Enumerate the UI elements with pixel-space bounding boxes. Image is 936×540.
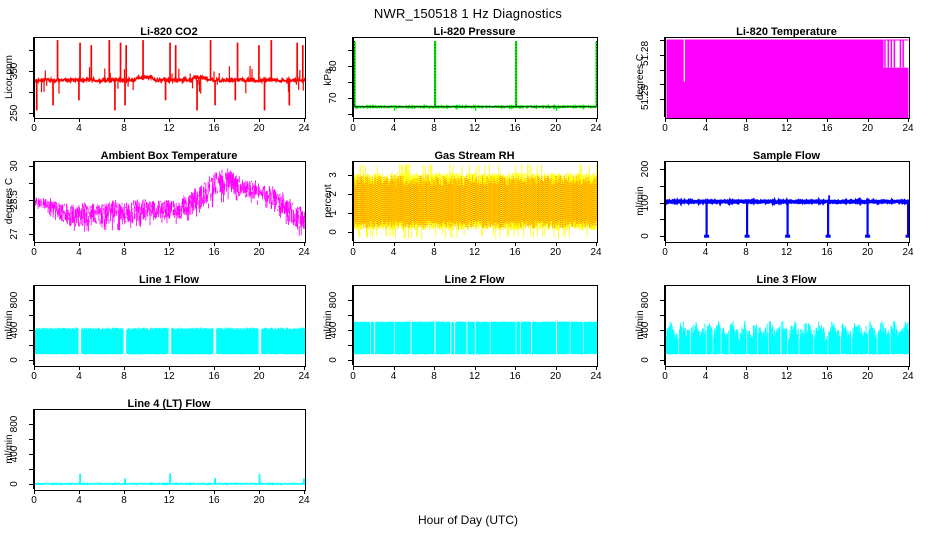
y-tick-label-li820-pressure-80: 80: [329, 55, 339, 77]
x-tick-li820-temperature-24: [908, 118, 909, 122]
x-tick-li820-temperature-16: [827, 118, 828, 122]
y-tick-label-line-4-lt-flow-800: 800: [10, 413, 20, 435]
y-axis-label-line-2-flow: ml/min: [324, 297, 334, 353]
x-tick-label-line-3-flow-24: 24: [902, 372, 913, 382]
y-tick-label-line-4-lt-flow-400: 400: [10, 443, 20, 465]
x-tick-label-li820-co2-4: 4: [76, 124, 82, 134]
panel-line-3-flow: Line 3 Flow048121620240400800ml/min: [0, 0, 936, 540]
x-tick-label-line-1-flow-12: 12: [163, 372, 174, 382]
x-tick-label-line-4-lt-flow-20: 20: [253, 496, 264, 506]
x-tick-line-3-flow-8: [746, 366, 747, 370]
x-tick-label-line-3-flow-8: 8: [743, 372, 749, 382]
x-tick-line-3-flow-16: [827, 366, 828, 370]
plot-area-ambient-box-temperature: [34, 161, 306, 243]
y-axis-label-li820-pressure: kPa: [324, 49, 334, 105]
x-tick-label-sample-flow-8: 8: [743, 248, 749, 258]
x-tick-line-4-lt-flow-4: [79, 490, 80, 494]
x-tick-line-3-flow-4: [706, 366, 707, 370]
x-tick-label-gas-stream-rh-12: 12: [469, 248, 480, 258]
y-tick-gas-stream-rh-2: [348, 194, 352, 195]
x-tick-label-li820-temperature-12: 12: [781, 124, 792, 134]
x-tick-label-line-4-lt-flow-8: 8: [121, 496, 127, 506]
x-tick-ambient-box-temperature-0: [34, 242, 35, 246]
x-tick-label-li820-temperature-8: 8: [743, 124, 749, 134]
y-tick-label-li820-co2-250: 250: [10, 102, 20, 124]
x-tick-line-2-flow-8: [434, 366, 435, 370]
y-tick-label-li820-temperature-51.28: 51.28: [641, 44, 651, 66]
y-tick-li820-co2-350: [29, 71, 33, 72]
x-axis-spine-li820-co2: [34, 118, 304, 119]
panel-li820-temperature: Li-820 Temperature0481216202451.2551.28d…: [0, 0, 936, 540]
y-minor-tick-sample-flow-150: [660, 186, 664, 187]
x-tick-line-2-flow-12: [475, 366, 476, 370]
y-tick-gas-stream-rh-3: [348, 175, 352, 176]
y-tick-line-2-flow-800: [348, 300, 352, 301]
x-tick-li820-co2-20: [259, 118, 260, 122]
y-axis-spine-line-3-flow: [664, 285, 665, 365]
x-tick-label-li820-temperature-4: 4: [703, 124, 709, 134]
y-tick-li820-temperature-51.28: [660, 55, 664, 56]
y-tick-label-gas-stream-rh-1: 1: [329, 202, 339, 224]
x-tick-label-gas-stream-rh-20: 20: [550, 248, 561, 258]
x-tick-label-line-3-flow-20: 20: [862, 372, 873, 382]
y-minor-tick-li820-temperature-51.27: [660, 70, 664, 71]
plot-area-line-1-flow: [34, 285, 306, 367]
x-tick-li820-temperature-12: [787, 118, 788, 122]
x-tick-label-line-2-flow-24: 24: [590, 372, 601, 382]
x-tick-sample-flow-4: [706, 242, 707, 246]
x-tick-line-1-flow-4: [79, 366, 80, 370]
x-tick-ambient-box-temperature-24: [304, 242, 305, 246]
x-tick-label-gas-stream-rh-0: 0: [350, 248, 356, 258]
panel-title-gas-stream-rh: Gas Stream RH: [353, 150, 596, 162]
x-tick-label-line-1-flow-4: 4: [76, 372, 82, 382]
x-tick-line-4-lt-flow-24: [304, 490, 305, 494]
x-tick-label-line-2-flow-4: 4: [391, 372, 397, 382]
y-tick-sample-flow-100: [660, 203, 664, 204]
x-tick-label-ambient-box-temperature-8: 8: [121, 248, 127, 258]
x-tick-label-line-4-lt-flow-24: 24: [298, 496, 309, 506]
y-axis-spine-sample-flow: [664, 161, 665, 241]
y-minor-tick-line-2-flow-600: [348, 315, 352, 316]
y-tick-line-1-flow-0: [29, 360, 33, 361]
y-tick-label-line-1-flow-400: 400: [10, 319, 20, 341]
x-tick-ambient-box-temperature-16: [214, 242, 215, 246]
x-axis-spine-line-2-flow: [353, 366, 596, 367]
y-tick-label-line-2-flow-400: 400: [329, 319, 339, 341]
x-tick-sample-flow-8: [746, 242, 747, 246]
y-tick-label-gas-stream-rh-0: 0: [329, 221, 339, 243]
x-tick-label-line-3-flow-0: 0: [662, 372, 668, 382]
x-tick-label-li820-co2-8: 8: [121, 124, 127, 134]
x-tick-label-gas-stream-rh-24: 24: [590, 248, 601, 258]
y-tick-line-1-flow-800: [29, 300, 33, 301]
panel-line-4-lt-flow: Line 4 (LT) Flow048121620240400800ml/min: [0, 0, 936, 540]
y-tick-sample-flow-200: [660, 169, 664, 170]
x-tick-ambient-box-temperature-12: [169, 242, 170, 246]
y-minor-tick-ambient-box-temperature-29.25: [29, 183, 33, 184]
y-tick-label-line-1-flow-0: 0: [10, 349, 20, 371]
page-title: NWR_150518 1 Hz Diagnostics: [0, 6, 936, 21]
y-tick-line-4-lt-flow-0: [29, 484, 33, 485]
x-tick-label-ambient-box-temperature-0: 0: [31, 248, 37, 258]
panel-sample-flow: Sample Flow048121620240100200ml/min: [0, 0, 936, 540]
x-tick-ambient-box-temperature-20: [259, 242, 260, 246]
x-tick-label-li820-co2-12: 12: [163, 124, 174, 134]
x-axis-spine-line-1-flow: [34, 366, 304, 367]
x-tick-gas-stream-rh-12: [475, 242, 476, 246]
y-tick-line-4-lt-flow-400: [29, 454, 33, 455]
x-tick-line-4-lt-flow-12: [169, 490, 170, 494]
y-tick-ambient-box-temperature-30: [29, 166, 33, 167]
y-minor-tick-line-2-flow-200: [348, 345, 352, 346]
x-tick-label-gas-stream-rh-4: 4: [391, 248, 397, 258]
x-tick-label-ambient-box-temperature-24: 24: [298, 248, 309, 258]
y-tick-label-sample-flow-200: 200: [641, 158, 651, 180]
y-tick-label-gas-stream-rh-2: 2: [329, 183, 339, 205]
x-tick-label-line-4-lt-flow-0: 0: [31, 496, 37, 506]
x-tick-label-line-3-flow-4: 4: [703, 372, 709, 382]
y-tick-ambient-box-temperature-28.5: [29, 200, 33, 201]
y-minor-tick-line-4-lt-flow-200: [29, 469, 33, 470]
y-minor-tick-li820-pressure-85: [348, 50, 352, 51]
y-tick-label-line-3-flow-800: 800: [641, 289, 651, 311]
y-tick-gas-stream-rh-0: [348, 232, 352, 233]
x-tick-line-1-flow-24: [304, 366, 305, 370]
panel-line-2-flow: Line 2 Flow048121620240400800ml/min: [0, 0, 936, 540]
y-tick-li820-pressure-70: [348, 98, 352, 99]
plot-area-line-4-lt-flow: [34, 409, 306, 491]
x-tick-label-li820-pressure-8: 8: [431, 124, 437, 134]
x-tick-label-line-2-flow-0: 0: [350, 372, 356, 382]
y-axis-label-li820-temperature: degrees C: [636, 49, 646, 105]
x-tick-line-1-flow-0: [34, 366, 35, 370]
x-tick-line-3-flow-20: [868, 366, 869, 370]
y-axis-spine-li820-pressure: [352, 37, 353, 117]
x-tick-li820-pressure-0: [353, 118, 354, 122]
x-tick-label-line-2-flow-16: 16: [509, 372, 520, 382]
y-minor-tick-line-3-flow-200: [660, 345, 664, 346]
y-axis-spine-line-1-flow: [33, 285, 34, 365]
x-tick-label-li820-co2-20: 20: [253, 124, 264, 134]
x-axis-spine-sample-flow: [665, 242, 908, 243]
x-tick-li820-pressure-24: [596, 118, 597, 122]
x-tick-line-1-flow-8: [124, 366, 125, 370]
x-tick-label-li820-pressure-20: 20: [550, 124, 561, 134]
x-tick-label-line-1-flow-20: 20: [253, 372, 264, 382]
y-tick-line-2-flow-400: [348, 330, 352, 331]
x-tick-label-line-1-flow-8: 8: [121, 372, 127, 382]
y-tick-label-li820-temperature-51.25: 51.25: [641, 88, 651, 110]
panel-title-li820-temperature: Li-820 Temperature: [665, 26, 908, 38]
x-tick-gas-stream-rh-16: [515, 242, 516, 246]
x-tick-li820-co2-0: [34, 118, 35, 122]
y-axis-spine-line-2-flow: [352, 285, 353, 365]
x-tick-li820-co2-12: [169, 118, 170, 122]
x-tick-label-line-4-lt-flow-12: 12: [163, 496, 174, 506]
x-tick-line-1-flow-16: [214, 366, 215, 370]
x-tick-label-sample-flow-0: 0: [662, 248, 668, 258]
x-tick-ambient-box-temperature-8: [124, 242, 125, 246]
y-minor-tick-sample-flow-50: [660, 219, 664, 220]
y-minor-tick-li820-pressure-75: [348, 82, 352, 83]
x-tick-line-4-lt-flow-8: [124, 490, 125, 494]
x-tick-label-sample-flow-4: 4: [703, 248, 709, 258]
panel-gas-stream-rh: Gas Stream RH048121620240123percent: [0, 0, 936, 540]
y-tick-label-line-1-flow-800: 800: [10, 289, 20, 311]
x-tick-li820-temperature-4: [706, 118, 707, 122]
x-tick-label-li820-pressure-4: 4: [391, 124, 397, 134]
x-tick-line-4-lt-flow-16: [214, 490, 215, 494]
x-tick-label-li820-temperature-24: 24: [902, 124, 913, 134]
x-axis-spine-line-3-flow: [665, 366, 908, 367]
panel-title-ambient-box-temperature: Ambient Box Temperature: [34, 150, 304, 162]
y-tick-label-line-3-flow-400: 400: [641, 319, 651, 341]
y-minor-tick-li820-co2-400: [29, 50, 33, 51]
x-tick-label-sample-flow-24: 24: [902, 248, 913, 258]
x-tick-line-2-flow-24: [596, 366, 597, 370]
x-tick-sample-flow-24: [908, 242, 909, 246]
y-tick-label-sample-flow-0: 0: [641, 225, 651, 247]
y-axis-label-line-1-flow: ml/min: [5, 297, 15, 353]
x-tick-gas-stream-rh-0: [353, 242, 354, 246]
x-tick-label-line-4-lt-flow-4: 4: [76, 496, 82, 506]
x-tick-li820-pressure-16: [515, 118, 516, 122]
y-minor-tick-li820-co2-300: [29, 92, 33, 93]
panel-title-line-3-flow: Line 3 Flow: [665, 274, 908, 286]
x-tick-label-li820-pressure-16: 16: [509, 124, 520, 134]
x-tick-gas-stream-rh-8: [434, 242, 435, 246]
panel-title-li820-co2: Li-820 CO2: [34, 26, 304, 38]
x-axis-label: Hour of Day (UTC): [0, 513, 936, 527]
y-tick-li820-co2-250: [29, 113, 33, 114]
x-tick-li820-co2-16: [214, 118, 215, 122]
y-axis-label-line-4-lt-flow: ml/min: [5, 421, 15, 477]
y-tick-li820-pressure-80: [348, 66, 352, 67]
x-tick-label-sample-flow-20: 20: [862, 248, 873, 258]
x-tick-sample-flow-0: [665, 242, 666, 246]
x-axis-spine-gas-stream-rh: [353, 242, 596, 243]
y-tick-sample-flow-0: [660, 236, 664, 237]
x-tick-label-li820-co2-0: 0: [31, 124, 37, 134]
y-tick-label-sample-flow-100: 100: [641, 192, 651, 214]
x-tick-sample-flow-16: [827, 242, 828, 246]
panel-title-line-2-flow: Line 2 Flow: [353, 274, 596, 286]
x-tick-sample-flow-12: [787, 242, 788, 246]
y-tick-label-line-2-flow-800: 800: [329, 289, 339, 311]
x-tick-label-line-4-lt-flow-16: 16: [208, 496, 219, 506]
x-tick-sample-flow-20: [868, 242, 869, 246]
y-tick-label-line-4-lt-flow-0: 0: [10, 473, 20, 495]
x-tick-label-ambient-box-temperature-12: 12: [163, 248, 174, 258]
y-tick-label-ambient-box-temperature-28.5: 28.5: [10, 189, 20, 211]
panel-title-line-4-lt-flow: Line 4 (LT) Flow: [34, 398, 304, 410]
y-tick-label-ambient-box-temperature-27: 27: [10, 223, 20, 245]
y-axis-spine-gas-stream-rh: [352, 161, 353, 241]
y-minor-tick-line-1-flow-600: [29, 315, 33, 316]
y-tick-label-ambient-box-temperature-30: 30: [10, 155, 20, 177]
y-tick-label-li820-co2-350: 350: [10, 60, 20, 82]
x-tick-gas-stream-rh-20: [556, 242, 557, 246]
x-tick-label-ambient-box-temperature-16: 16: [208, 248, 219, 258]
y-tick-gas-stream-rh-1: [348, 213, 352, 214]
x-tick-li820-pressure-20: [556, 118, 557, 122]
y-axis-label-line-3-flow: ml/min: [636, 297, 646, 353]
x-tick-line-3-flow-0: [665, 366, 666, 370]
x-tick-label-line-1-flow-24: 24: [298, 372, 309, 382]
y-axis-label-ambient-box-temperature: degrees C: [5, 173, 15, 229]
x-tick-line-2-flow-16: [515, 366, 516, 370]
x-tick-line-4-lt-flow-0: [34, 490, 35, 494]
x-tick-label-li820-pressure-12: 12: [469, 124, 480, 134]
x-tick-label-ambient-box-temperature-4: 4: [76, 248, 82, 258]
panel-title-line-1-flow: Line 1 Flow: [34, 274, 304, 286]
x-tick-li820-temperature-8: [746, 118, 747, 122]
x-tick-label-line-2-flow-8: 8: [431, 372, 437, 382]
x-tick-label-li820-co2-24: 24: [298, 124, 309, 134]
x-tick-line-3-flow-12: [787, 366, 788, 370]
x-tick-label-li820-temperature-20: 20: [862, 124, 873, 134]
x-tick-label-sample-flow-12: 12: [781, 248, 792, 258]
y-minor-tick-line-3-flow-600: [660, 315, 664, 316]
y-minor-tick-ambient-box-temperature-27.75: [29, 217, 33, 218]
x-tick-line-1-flow-20: [259, 366, 260, 370]
x-tick-label-gas-stream-rh-8: 8: [431, 248, 437, 258]
y-minor-tick-li820-temperature-51.26: [660, 84, 664, 85]
plot-area-line-2-flow: [353, 285, 598, 367]
y-axis-label-li820-co2: Licor ppm: [5, 49, 15, 105]
y-axis-spine-line-4-lt-flow: [33, 409, 34, 489]
x-tick-line-2-flow-20: [556, 366, 557, 370]
y-axis-spine-li820-temperature: [664, 37, 665, 117]
panel-li820-pressure: Li-820 Pressure048121620247080kPa: [0, 0, 936, 540]
y-tick-label-line-3-flow-0: 0: [641, 349, 651, 371]
y-minor-tick-line-1-flow-200: [29, 345, 33, 346]
y-axis-spine-ambient-box-temperature: [33, 161, 34, 241]
x-tick-gas-stream-rh-4: [394, 242, 395, 246]
x-tick-li820-pressure-4: [394, 118, 395, 122]
x-tick-ambient-box-temperature-4: [79, 242, 80, 246]
x-tick-li820-co2-24: [304, 118, 305, 122]
x-tick-line-2-flow-0: [353, 366, 354, 370]
y-tick-line-2-flow-0: [348, 360, 352, 361]
x-tick-line-1-flow-12: [169, 366, 170, 370]
panel-title-li820-pressure: Li-820 Pressure: [353, 26, 596, 38]
panel-ambient-box-temperature: Ambient Box Temperature048121620242728.5…: [0, 0, 936, 540]
x-tick-label-line-1-flow-16: 16: [208, 372, 219, 382]
x-tick-label-sample-flow-16: 16: [821, 248, 832, 258]
x-axis-spine-li820-temperature: [665, 118, 908, 119]
y-tick-line-1-flow-400: [29, 330, 33, 331]
y-minor-tick-li820-pressure-65: [348, 114, 352, 115]
x-tick-gas-stream-rh-24: [596, 242, 597, 246]
x-tick-line-3-flow-24: [908, 366, 909, 370]
plot-area-gas-stream-rh: [353, 161, 598, 243]
x-tick-label-line-3-flow-16: 16: [821, 372, 832, 382]
x-tick-li820-temperature-0: [665, 118, 666, 122]
y-tick-line-3-flow-800: [660, 300, 664, 301]
panel-line-1-flow: Line 1 Flow048121620240400800ml/min: [0, 0, 936, 540]
x-tick-label-li820-pressure-0: 0: [350, 124, 356, 134]
y-minor-tick-li820-temperature-51.29: [660, 40, 664, 41]
plot-area-line-3-flow: [665, 285, 910, 367]
x-tick-label-ambient-box-temperature-20: 20: [253, 248, 264, 258]
panel-li820-co2: Li-820 CO204812162024250350Licor ppm: [0, 0, 936, 540]
x-tick-label-gas-stream-rh-16: 16: [509, 248, 520, 258]
y-tick-line-4-lt-flow-800: [29, 424, 33, 425]
y-tick-label-li820-pressure-70: 70: [329, 87, 339, 109]
x-tick-label-li820-co2-16: 16: [208, 124, 219, 134]
y-tick-label-gas-stream-rh-3: 3: [329, 164, 339, 186]
x-tick-label-line-2-flow-20: 20: [550, 372, 561, 382]
y-tick-li820-temperature-51.25: [660, 99, 664, 100]
x-tick-li820-pressure-12: [475, 118, 476, 122]
plot-area-sample-flow: [665, 161, 910, 243]
x-tick-line-2-flow-4: [394, 366, 395, 370]
x-tick-li820-temperature-20: [868, 118, 869, 122]
x-tick-label-line-1-flow-0: 0: [31, 372, 37, 382]
x-tick-label-li820-temperature-16: 16: [821, 124, 832, 134]
x-tick-label-li820-temperature-0: 0: [662, 124, 668, 134]
y-tick-label-line-2-flow-0: 0: [329, 349, 339, 371]
y-tick-line-3-flow-400: [660, 330, 664, 331]
x-axis-spine-li820-pressure: [353, 118, 596, 119]
y-axis-spine-li820-co2: [33, 37, 34, 117]
y-tick-ambient-box-temperature-27: [29, 234, 33, 235]
y-axis-label-gas-stream-rh: percent: [324, 173, 334, 229]
x-tick-li820-co2-4: [79, 118, 80, 122]
x-tick-label-line-3-flow-12: 12: [781, 372, 792, 382]
x-tick-label-line-2-flow-12: 12: [469, 372, 480, 382]
x-tick-line-4-lt-flow-20: [259, 490, 260, 494]
x-axis-spine-line-4-lt-flow: [34, 490, 304, 491]
y-axis-label-sample-flow: ml/min: [636, 173, 646, 229]
plot-area-li820-temperature: [665, 37, 910, 119]
x-axis-spine-ambient-box-temperature: [34, 242, 304, 243]
x-tick-li820-co2-8: [124, 118, 125, 122]
panel-title-sample-flow: Sample Flow: [665, 150, 908, 162]
plot-area-li820-co2: [34, 37, 306, 119]
x-tick-label-li820-pressure-24: 24: [590, 124, 601, 134]
x-tick-li820-pressure-8: [434, 118, 435, 122]
y-tick-line-3-flow-0: [660, 360, 664, 361]
y-minor-tick-line-4-lt-flow-600: [29, 439, 33, 440]
plot-area-li820-pressure: [353, 37, 598, 119]
